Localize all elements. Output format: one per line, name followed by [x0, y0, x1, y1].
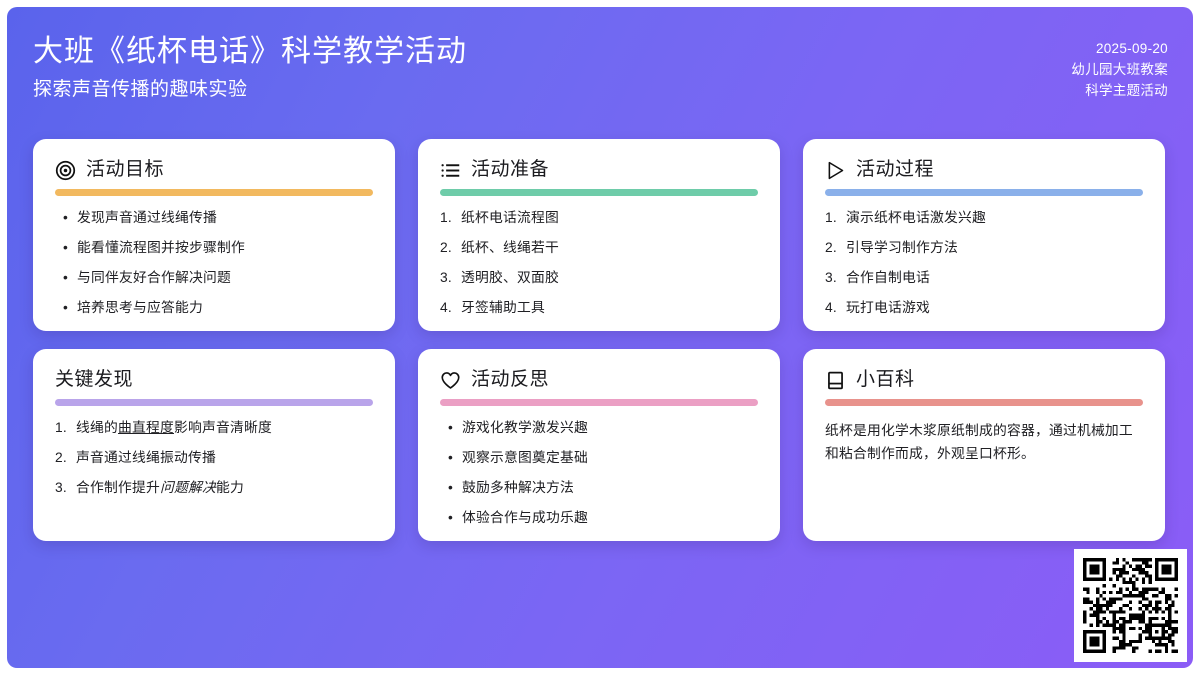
- number-marker: 2.: [440, 239, 461, 257]
- list-item: •与同伴友好合作解决问题: [55, 269, 373, 287]
- number-marker: 3.: [55, 479, 76, 497]
- list-item-text: 体验合作与成功乐趣: [462, 509, 758, 527]
- list-item: •观察示意图奠定基础: [440, 449, 758, 467]
- play-icon: [825, 160, 846, 181]
- list-item: 1.纸杯电话流程图: [440, 209, 758, 227]
- slide-header: 大班《纸杯电话》科学教学活动 探索声音传播的趣味实验 2025-09-20 幼儿…: [7, 7, 1193, 132]
- card-header: 活动反思: [440, 365, 758, 395]
- card-accent-rule: [55, 399, 373, 406]
- list-item: 4.玩打电话游戏: [825, 299, 1143, 317]
- card-accent-rule: [825, 189, 1143, 196]
- list-item: 3.透明胶、双面胶: [440, 269, 758, 287]
- list-item-text: 培养思考与应答能力: [77, 299, 373, 317]
- number-marker: 2.: [55, 449, 76, 467]
- meta-date: 2025-09-20: [1071, 38, 1168, 59]
- bullet-marker: •: [440, 479, 462, 497]
- title-block: 大班《纸杯电话》科学教学活动 探索声音传播的趣味实验: [33, 31, 467, 105]
- list-item-text: 纸杯电话流程图: [461, 209, 758, 227]
- list-item-text: 合作自制电话: [846, 269, 1143, 287]
- number-marker: 1.: [440, 209, 461, 227]
- book-icon: [825, 370, 846, 391]
- page-subtitle: 探索声音传播的趣味实验: [33, 75, 467, 105]
- number-marker: 1.: [55, 419, 76, 437]
- list-item-text: 观察示意图奠定基础: [462, 449, 758, 467]
- number-marker: 3.: [440, 269, 461, 287]
- card-title: 小百科: [856, 368, 915, 392]
- list-item: 2.引导学习制作方法: [825, 239, 1143, 257]
- list-item: 2.纸杯、线绳若干: [440, 239, 758, 257]
- card-process: 活动过程1.演示纸杯电话激发兴趣2.引导学习制作方法3.合作自制电话4.玩打电话…: [803, 139, 1165, 331]
- qr-code[interactable]: [1074, 549, 1187, 662]
- list-item: •鼓励多种解决方法: [440, 479, 758, 497]
- qr-code-image: [1083, 558, 1178, 653]
- number-marker: 2.: [825, 239, 846, 257]
- list-item-text: 线绳的曲直程度影响声音清晰度: [76, 419, 373, 437]
- card-list: •游戏化教学激发兴趣•观察示意图奠定基础•鼓励多种解决方法•体验合作与成功乐趣: [440, 419, 758, 527]
- card-list: 1.纸杯电话流程图2.纸杯、线绳若干3.透明胶、双面胶4.牙签辅助工具: [440, 209, 758, 317]
- list-item: •培养思考与应答能力: [55, 299, 373, 317]
- list-item-text: 游戏化教学激发兴趣: [462, 419, 758, 437]
- list-item: 3.合作自制电话: [825, 269, 1143, 287]
- card-header: 关键发现: [55, 365, 373, 395]
- card-header: 活动准备: [440, 155, 758, 185]
- list-item-text: 牙签辅助工具: [461, 299, 758, 317]
- card-list: 1.线绳的曲直程度影响声音清晰度2.声音通过线绳振动传播3.合作制作提升问题解决…: [55, 419, 373, 497]
- card-findings: 关键发现1.线绳的曲直程度影响声音清晰度2.声音通过线绳振动传播3.合作制作提升…: [33, 349, 395, 541]
- list-item-text: 演示纸杯电话激发兴趣: [846, 209, 1143, 227]
- card-title: 活动过程: [856, 158, 934, 182]
- list-item: •体验合作与成功乐趣: [440, 509, 758, 527]
- number-marker: 4.: [440, 299, 461, 317]
- list-item: 1.线绳的曲直程度影响声音清晰度: [55, 419, 373, 437]
- target-icon: [55, 160, 76, 181]
- list-item: 4.牙签辅助工具: [440, 299, 758, 317]
- meta-category: 幼儿园大班教案: [1071, 59, 1168, 80]
- list-item-text: 发现声音通过线绳传播: [77, 209, 373, 227]
- list-item-text: 与同伴友好合作解决问题: [77, 269, 373, 287]
- card-title: 活动反思: [471, 368, 549, 392]
- list-item-text: 鼓励多种解决方法: [462, 479, 758, 497]
- card-encyclopedia: 小百科纸杯是用化学木浆原纸制成的容器，通过机械加工和粘合制作而成，外观呈口杯形。: [803, 349, 1165, 541]
- list-item-text: 合作制作提升问题解决能力: [76, 479, 373, 497]
- card-list: •发现声音通过线绳传播•能看懂流程图并按步骤制作•与同伴友好合作解决问题•培养思…: [55, 209, 373, 317]
- list-item-text: 纸杯、线绳若干: [461, 239, 758, 257]
- card-accent-rule: [825, 399, 1143, 406]
- bullet-marker: •: [55, 239, 77, 257]
- heart-icon: [440, 370, 461, 391]
- card-preparation: 活动准备1.纸杯电话流程图2.纸杯、线绳若干3.透明胶、双面胶4.牙签辅助工具: [418, 139, 780, 331]
- slide-canvas: 大班《纸杯电话》科学教学活动 探索声音传播的趣味实验 2025-09-20 幼儿…: [7, 7, 1193, 668]
- list-item-text: 声音通过线绳振动传播: [76, 449, 373, 467]
- bullet-marker: •: [440, 449, 462, 467]
- header-meta: 2025-09-20 幼儿园大班教案 科学主题活动: [1071, 38, 1168, 101]
- card-accent-rule: [440, 399, 758, 406]
- list-item-text: 能看懂流程图并按步骤制作: [77, 239, 373, 257]
- list-item: 1.演示纸杯电话激发兴趣: [825, 209, 1143, 227]
- bullet-marker: •: [55, 299, 77, 317]
- card-list: 1.演示纸杯电话激发兴趣2.引导学习制作方法3.合作自制电话4.玩打电话游戏: [825, 209, 1143, 317]
- bullet-marker: •: [55, 209, 77, 227]
- list-item: •发现声音通过线绳传播: [55, 209, 373, 227]
- number-marker: 3.: [825, 269, 846, 287]
- card-title: 关键发现: [55, 368, 133, 392]
- card-goals: 活动目标•发现声音通过线绳传播•能看懂流程图并按步骤制作•与同伴友好合作解决问题…: [33, 139, 395, 331]
- page-title: 大班《纸杯电话》科学教学活动: [33, 31, 467, 73]
- list-item: •能看懂流程图并按步骤制作: [55, 239, 373, 257]
- list-item: 2.声音通过线绳振动传播: [55, 449, 373, 467]
- list-item-text: 玩打电话游戏: [846, 299, 1143, 317]
- card-accent-rule: [55, 189, 373, 196]
- card-title: 活动目标: [86, 158, 164, 182]
- card-paragraph: 纸杯是用化学木浆原纸制成的容器，通过机械加工和粘合制作而成，外观呈口杯形。: [825, 419, 1143, 465]
- bullet-marker: •: [440, 419, 462, 437]
- list-item: •游戏化教学激发兴趣: [440, 419, 758, 437]
- list-item-text: 透明胶、双面胶: [461, 269, 758, 287]
- bullet-marker: •: [440, 509, 462, 527]
- number-marker: 4.: [825, 299, 846, 317]
- card-title: 活动准备: [471, 158, 549, 182]
- list-item: 3.合作制作提升问题解决能力: [55, 479, 373, 497]
- list-icon: [440, 160, 461, 181]
- card-header: 小百科: [825, 365, 1143, 395]
- bullet-marker: •: [55, 269, 77, 287]
- card-grid: 活动目标•发现声音通过线绳传播•能看懂流程图并按步骤制作•与同伴友好合作解决问题…: [33, 139, 1167, 541]
- number-marker: 1.: [825, 209, 846, 227]
- card-reflection: 活动反思•游戏化教学激发兴趣•观察示意图奠定基础•鼓励多种解决方法•体验合作与成…: [418, 349, 780, 541]
- card-header: 活动目标: [55, 155, 373, 185]
- card-header: 活动过程: [825, 155, 1143, 185]
- card-accent-rule: [440, 189, 758, 196]
- meta-theme: 科学主题活动: [1071, 80, 1168, 101]
- list-item-text: 引导学习制作方法: [846, 239, 1143, 257]
